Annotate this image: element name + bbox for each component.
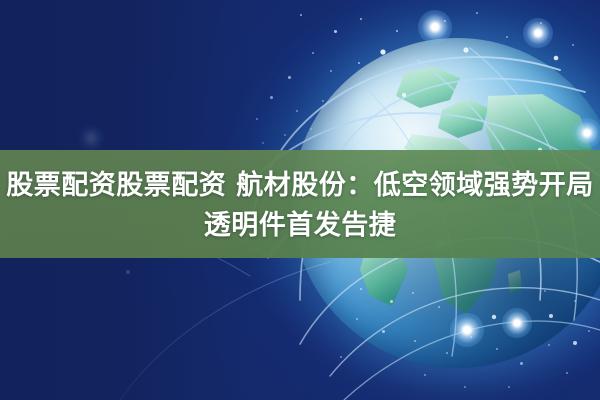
headline-line-2: 透明件首发告捷: [0, 206, 600, 246]
headline: 股票配资股票配资 航材股份：低空领域强势开局 透明件首发告捷: [0, 166, 600, 246]
banner-image: 股票配资股票配资 航材股份：低空领域强势开局 透明件首发告捷: [0, 0, 600, 400]
headline-line-1: 股票配资股票配资 航材股份：低空领域强势开局: [6, 170, 593, 201]
